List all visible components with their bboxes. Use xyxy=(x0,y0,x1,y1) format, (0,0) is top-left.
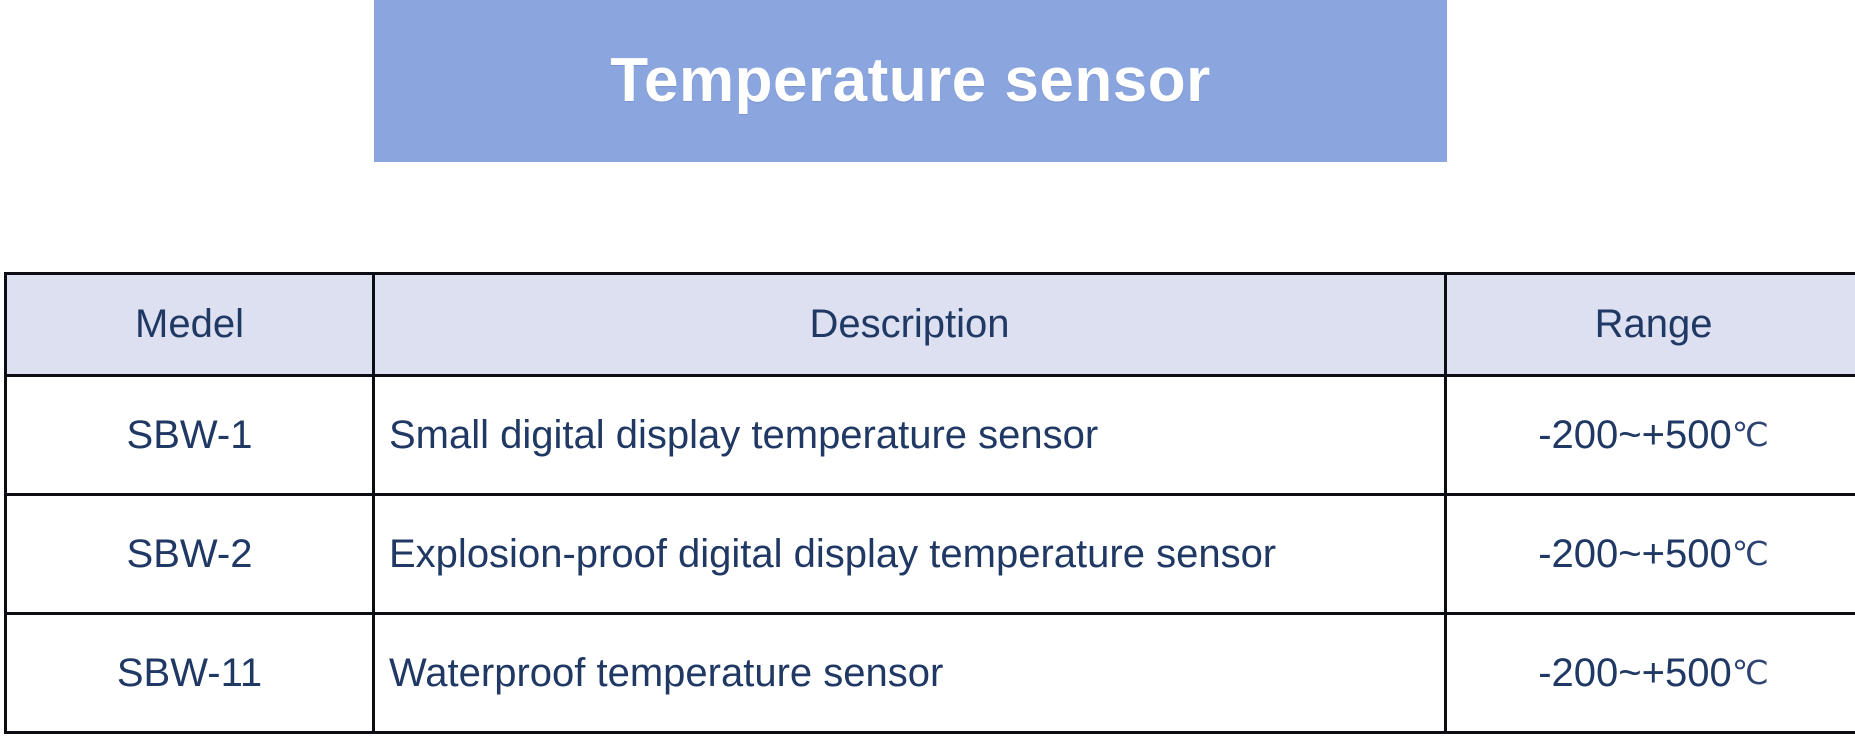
temperature-sensor-spec-table: Medel Description Range SBW-1 Small digi… xyxy=(4,272,1855,734)
cell-range: -200~+500℃ xyxy=(1446,614,1855,733)
spec-table-container: Medel Description Range SBW-1 Small digi… xyxy=(4,272,1855,732)
page-title: Temperature sensor xyxy=(610,50,1211,112)
cell-description: Explosion-proof digital display temperat… xyxy=(374,495,1446,614)
table-header-row: Medel Description Range xyxy=(6,274,1855,376)
range-value: -200~+500 xyxy=(1538,413,1732,457)
cell-range: -200~+500℃ xyxy=(1446,376,1855,495)
column-header-description: Description xyxy=(374,274,1446,376)
range-value: -200~+500 xyxy=(1538,651,1732,695)
cell-range: -200~+500℃ xyxy=(1446,495,1855,614)
cell-model: SBW-2 xyxy=(6,495,374,614)
range-unit: ℃ xyxy=(1732,535,1769,572)
table-row: SBW-11 Waterproof temperature sensor -20… xyxy=(6,614,1855,733)
range-unit: ℃ xyxy=(1732,654,1769,691)
column-header-model: Medel xyxy=(6,274,374,376)
cell-description: Small digital display temperature sensor xyxy=(374,376,1446,495)
table-row: SBW-2 Explosion-proof digital display te… xyxy=(6,495,1855,614)
cell-model: SBW-11 xyxy=(6,614,374,733)
table-row: SBW-1 Small digital display temperature … xyxy=(6,376,1855,495)
range-value: -200~+500 xyxy=(1538,532,1732,576)
range-unit: ℃ xyxy=(1732,416,1769,453)
cell-model: SBW-1 xyxy=(6,376,374,495)
column-header-range: Range xyxy=(1446,274,1855,376)
title-banner: Temperature sensor xyxy=(374,0,1447,162)
cell-description: Waterproof temperature sensor xyxy=(374,614,1446,733)
